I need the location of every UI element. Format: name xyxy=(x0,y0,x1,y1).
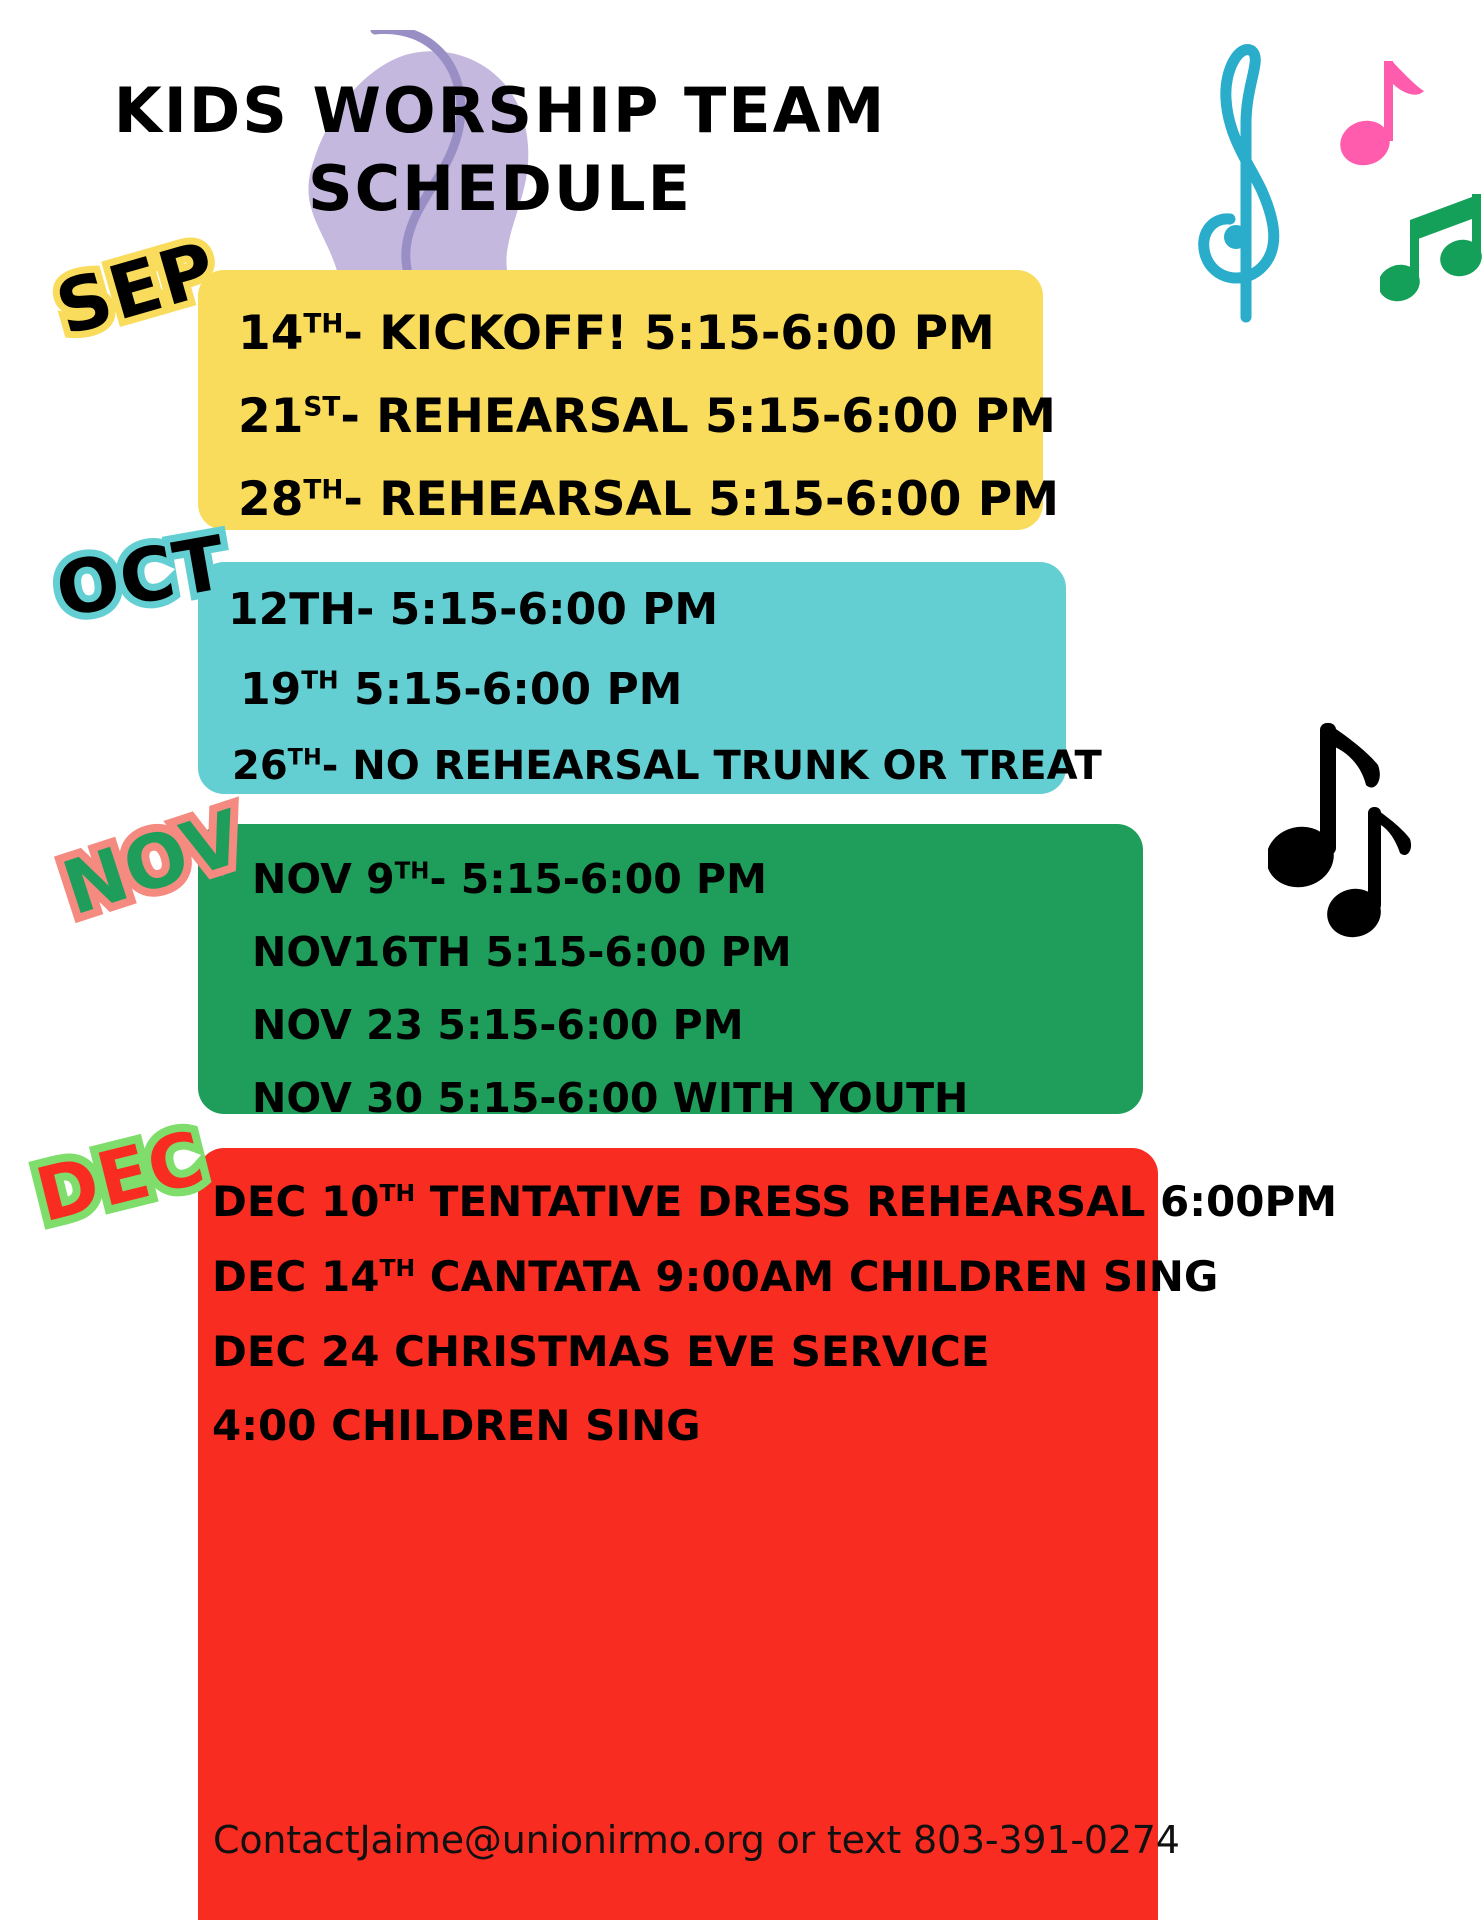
schedule-line-ordinal: TH xyxy=(301,665,338,694)
schedule-line: 4:00 CHILDREN SING xyxy=(212,1389,1337,1464)
schedule-line-day: 19 xyxy=(240,664,301,715)
schedule-line-day: NOV16TH xyxy=(252,928,471,976)
schedule-line-ordinal: TH xyxy=(303,476,343,506)
schedule-line-day: 21 xyxy=(238,389,303,444)
schedule-line: DEC 24 CHRISTMAS EVE SERVICE xyxy=(212,1315,1337,1390)
schedule-line-detail: 5:15-6:00 PM xyxy=(339,664,683,715)
schedule-line-ordinal: TH xyxy=(379,1179,415,1207)
schedule-line-detail: 5:15-6:00 WITH YOUTH xyxy=(423,1074,968,1122)
schedule-line: 19TH 5:15-6:00 PM xyxy=(240,650,1102,730)
schedule-line-detail: - KICKOFF! 5:15-6:00 PM xyxy=(343,306,994,361)
schedule-line: NOV 23 5:15-6:00 PM xyxy=(252,989,968,1062)
schedule-line-day: DEC 24 xyxy=(212,1327,379,1376)
schedule-line-detail: - 5:15-6:00 PM xyxy=(429,855,766,903)
schedule-lines-oct: 12TH- 5:15-6:00 PM19TH 5:15-6:00 PM26TH-… xyxy=(228,570,1102,803)
schedule-line: 21ST- REHEARSAL 5:15-6:00 PM xyxy=(238,375,1059,458)
schedule-line-ordinal: TH xyxy=(395,858,430,884)
schedule-line-detail: CHRISTMAS EVE SERVICE xyxy=(379,1327,989,1376)
schedule-line-detail: 5:15-6:00 PM xyxy=(423,1001,743,1049)
poster-canvas: KIDS WORSHIP TEAM SCHEDULE SEP OCT NOV D… xyxy=(0,0,1483,1920)
schedule-line: 12TH- 5:15-6:00 PM xyxy=(228,570,1102,650)
schedule-line: DEC 14TH CANTATA 9:00AM CHILDREN SING xyxy=(212,1240,1337,1315)
schedule-line-detail: - REHEARSAL 5:15-6:00 PM xyxy=(340,389,1056,444)
schedule-line: NOV 9TH- 5:15-6:00 PM xyxy=(252,843,968,916)
treble-clef-icon xyxy=(1188,25,1298,330)
schedule-line: DEC 10TH TENTATIVE DRESS REHEARSAL 6:00P… xyxy=(212,1165,1337,1240)
schedule-lines-nov: NOV 9TH- 5:15-6:00 PMNOV16TH 5:15-6:00 P… xyxy=(252,843,968,1135)
schedule-line-detail: - REHEARSAL 5:15-6:00 PM xyxy=(343,472,1059,527)
schedule-line-detail: - 5:15-6:00 PM xyxy=(356,584,718,635)
title-line-1: KIDS WORSHIP TEAM xyxy=(0,70,1000,152)
schedule-line-detail: CHILDREN SING xyxy=(316,1401,700,1450)
month-badge-dec: DEC xyxy=(30,1121,212,1234)
schedule-line: NOV16TH 5:15-6:00 PM xyxy=(252,916,968,989)
schedule-line-ordinal: TH xyxy=(288,745,322,771)
schedule-line: 14TH- KICKOFF! 5:15-6:00 PM xyxy=(238,292,1059,375)
schedule-line-detail: CANTATA 9:00AM CHILDREN SING xyxy=(415,1252,1218,1301)
schedule-line: 28TH- REHEARSAL 5:15-6:00 PM xyxy=(238,458,1059,541)
schedule-line-ordinal: ST xyxy=(303,393,340,423)
schedule-line-day: DEC 14 xyxy=(212,1252,379,1301)
title-line-2: SCHEDULE xyxy=(0,148,1000,230)
schedule-lines-sep: 14TH- KICKOFF! 5:15-6:00 PM21ST- REHEARS… xyxy=(238,292,1059,542)
green-music-note-icon xyxy=(1380,180,1483,315)
schedule-line-day: 12TH xyxy=(228,584,356,635)
schedule-line-day: 4:00 xyxy=(212,1401,316,1450)
schedule-line-day: NOV 9 xyxy=(252,855,395,903)
schedule-lines-dec: DEC 10TH TENTATIVE DRESS REHEARSAL 6:00P… xyxy=(212,1165,1337,1464)
page-title: KIDS WORSHIP TEAM SCHEDULE xyxy=(0,70,1000,231)
pink-music-note-icon xyxy=(1330,55,1430,180)
schedule-line-day: 28 xyxy=(238,472,303,527)
schedule-line: 26TH- NO REHEARSAL TRUNK OR TREAT xyxy=(232,730,1102,803)
schedule-line-day: 26 xyxy=(232,743,288,789)
schedule-line-detail: 5:15-6:00 PM xyxy=(471,928,791,976)
schedule-line-ordinal: TH xyxy=(303,309,343,339)
schedule-line-day: 14 xyxy=(238,306,303,361)
black-music-notes-icon xyxy=(1268,705,1448,960)
schedule-line-day: NOV 30 xyxy=(252,1074,423,1122)
schedule-line-day: DEC 10 xyxy=(212,1177,379,1226)
schedule-line-ordinal: TH xyxy=(379,1254,415,1282)
contact-line: ContactJaime@unionirmo.org or text 803-3… xyxy=(213,1818,1180,1862)
schedule-line-detail: TENTATIVE DRESS REHEARSAL 6:00PM xyxy=(415,1177,1337,1226)
schedule-line-day: NOV 23 xyxy=(252,1001,423,1049)
schedule-line-detail: - NO REHEARSAL TRUNK OR TREAT xyxy=(322,743,1102,789)
schedule-line: NOV 30 5:15-6:00 WITH YOUTH xyxy=(252,1062,968,1135)
